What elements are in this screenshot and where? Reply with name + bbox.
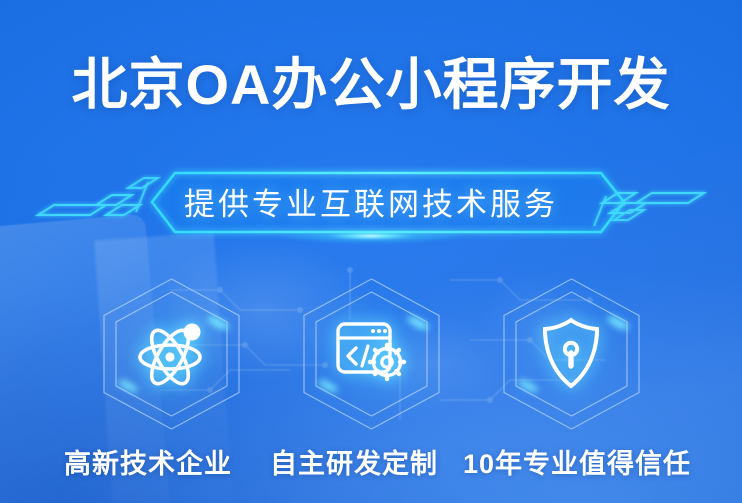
feature-label-0: 高新技术企业 <box>42 442 254 481</box>
shield-lock-icon <box>535 314 607 394</box>
feature-label-2: 10年专业值得信任 <box>454 442 700 481</box>
lens-flare-glow <box>276 228 466 244</box>
feature-item-2 <box>494 276 649 432</box>
subtitle-banner: 提供专业互联网技术服务 <box>0 164 742 236</box>
atom-icon <box>130 313 212 395</box>
promo-banner: 北京OA办公小程序开发 <box>0 0 742 503</box>
page-title: 北京OA办公小程序开发 <box>0 52 742 118</box>
feature-label-1: 自主研发定制 <box>254 442 454 481</box>
feature-icons-row <box>0 276 742 432</box>
feature-labels-row: 高新技术企业 自主研发定制 10年专业值得信任 <box>0 442 742 481</box>
subtitle-text: 提供专业互联网技术服务 <box>0 179 742 224</box>
feature-item-0 <box>94 276 249 432</box>
code-window-gear-icon <box>331 316 411 392</box>
feature-item-1 <box>294 276 449 432</box>
